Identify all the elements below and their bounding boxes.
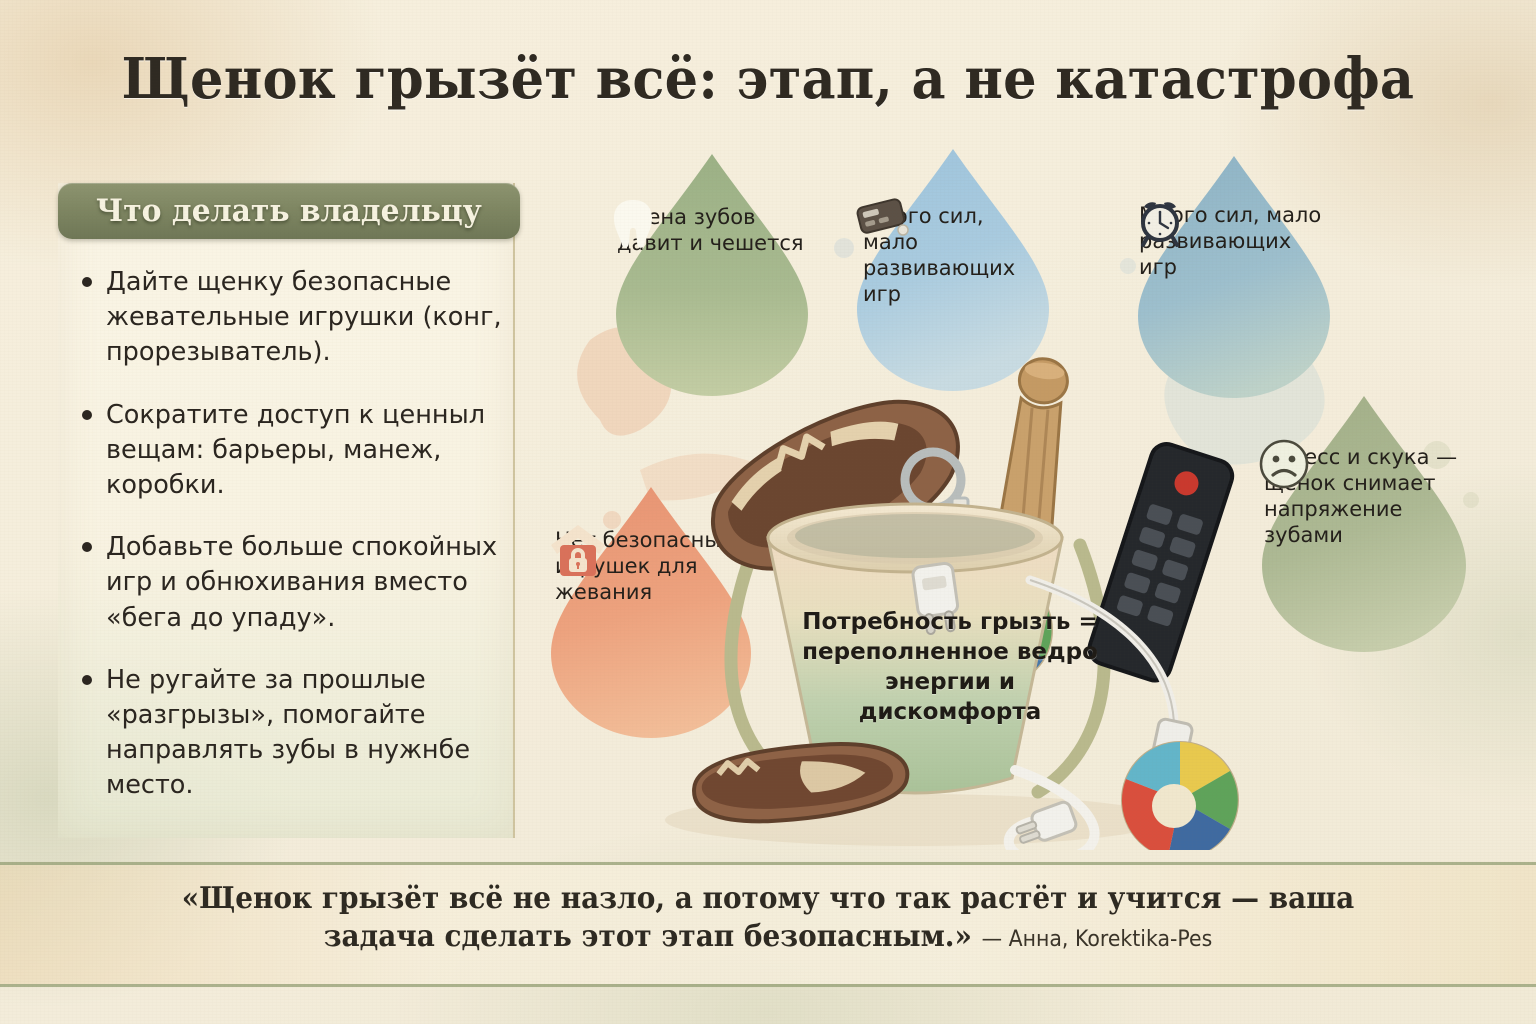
bullet-text: Добавьте больше спокойных игр и обнюхива… bbox=[106, 530, 521, 636]
infographic-page: Щенок грызёт всё: этап, а не катастрофа … bbox=[0, 0, 1536, 1024]
list-item: Добавьте больше спокойных игр и обнюхива… bbox=[82, 530, 532, 636]
list-item: Сократите доступ к ценныл вещам: барьеры… bbox=[82, 398, 532, 504]
footer-quote: «Щенок грызёт всё не назло, а потому что… bbox=[165, 880, 1370, 957]
advice-panel-header: Что делать владельцу bbox=[58, 183, 520, 239]
bucket-illustration bbox=[560, 330, 1320, 850]
footer-rule-top bbox=[0, 862, 1536, 865]
bullet-text: Сократите доступ к ценныл вещам: барьеры… bbox=[106, 398, 521, 504]
bullet-dot-icon bbox=[82, 542, 92, 552]
advice-bullet-list: Дайте щенку безопасные жевательные игруш… bbox=[82, 265, 532, 830]
list-item: Дайте щенку безопасные жевательные игруш… bbox=[82, 265, 532, 371]
footer-rule-bottom bbox=[0, 984, 1536, 987]
advice-panel-heading-label: Что делать владельцу bbox=[96, 193, 482, 229]
bullet-text: Не ругайте за прошлые «разгрызы», помога… bbox=[106, 663, 521, 804]
list-item: Не ругайте за прошлые «разгрызы», помога… bbox=[82, 663, 532, 804]
page-title: Щенок грызёт всё: этап, а не катастрофа bbox=[46, 46, 1490, 112]
footer-attribution: — Анна, Korektika-Pes bbox=[982, 927, 1213, 952]
bullet-dot-icon bbox=[82, 675, 92, 685]
bucket-label: Потребность грызть = переполненное ведро… bbox=[795, 608, 1105, 728]
bullet-dot-icon bbox=[82, 277, 92, 287]
bullet-dot-icon bbox=[82, 410, 92, 420]
bullet-text: Дайте щенку безопасные жевательные игруш… bbox=[106, 265, 521, 371]
